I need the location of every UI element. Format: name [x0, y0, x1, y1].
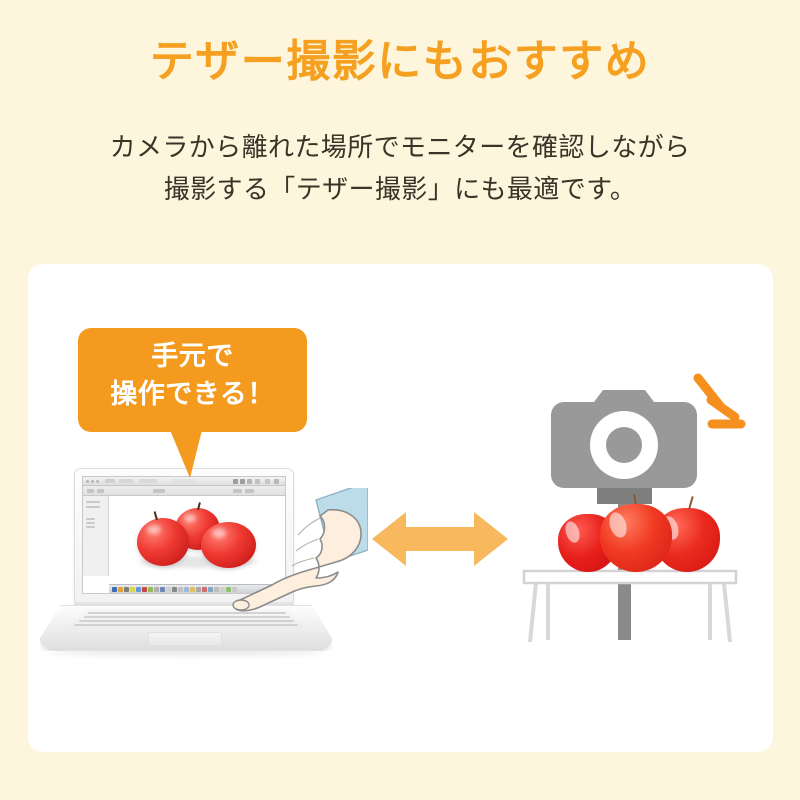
window-close-dot	[86, 480, 89, 483]
arrow-shape	[372, 512, 508, 566]
dock-icon-app-18[interactable]	[220, 587, 225, 592]
keyboard-row-3	[79, 620, 294, 622]
dock-icon-app-15[interactable]	[202, 587, 207, 592]
titlebar-icon-3	[247, 479, 252, 484]
toolbar-button-3[interactable]	[153, 489, 165, 493]
titlebar-segment-2	[119, 479, 133, 483]
camera-lens-center	[606, 427, 642, 463]
arrow-svg	[372, 508, 508, 570]
titlebar-icon-2	[240, 479, 245, 484]
toolbar-button-2[interactable]	[97, 489, 104, 493]
dock-icon-finder[interactable]	[112, 587, 117, 592]
table-leg-right-front	[724, 583, 730, 642]
page-root: テザー撮影にもおすすめ カメラから離れた場所でモニターを確認しながら 撮影する「…	[0, 0, 800, 800]
finger-crease-3	[298, 518, 320, 535]
speech-bubble-tail	[170, 430, 202, 478]
titlebar-segment-1	[105, 479, 115, 483]
dock-icon-safari[interactable]	[136, 587, 141, 592]
pointing-hand-svg	[228, 488, 368, 618]
photo-apple-left	[137, 518, 189, 566]
dock-icon-app-13[interactable]	[190, 587, 195, 592]
dock-icon-app-16[interactable]	[208, 587, 213, 592]
keyboard-row-4	[74, 624, 298, 626]
table-apple-center-highlight	[606, 510, 629, 539]
dock-icon-settings[interactable]	[124, 587, 129, 592]
sidebar-row-2[interactable]	[86, 506, 100, 508]
titlebar-title	[171, 479, 195, 483]
sidebar-row-5[interactable]	[86, 526, 95, 528]
subtitle-line-1: カメラから離れた場所でモニターを確認しながら	[0, 126, 800, 168]
window-minimize-dot	[91, 480, 94, 483]
toolbar-button-1[interactable]	[87, 489, 94, 493]
double-headed-arrow	[372, 508, 508, 570]
camera-scene-svg	[518, 362, 778, 642]
finger-crease-2	[296, 539, 318, 551]
pointing-hand-illustration	[228, 488, 368, 618]
table-top	[524, 571, 736, 583]
dock-icon-photos[interactable]	[154, 587, 159, 592]
dock-icon-app-14[interactable]	[196, 587, 201, 592]
titlebar-icon-6	[274, 479, 279, 484]
titlebar-segment-3	[139, 479, 157, 483]
dock-icon-notes[interactable]	[130, 587, 135, 592]
dock-icon-calendar[interactable]	[148, 587, 153, 592]
titlebar-icon-5	[265, 479, 270, 484]
dock-icon-app-11[interactable]	[178, 587, 183, 592]
window-sidebar	[83, 496, 109, 576]
speech-bubble-line-2: 操作できる！	[78, 375, 307, 413]
dock-icon-app-12[interactable]	[184, 587, 189, 592]
speech-bubble: 手元で 操作できる！	[78, 328, 307, 432]
titlebar-icon-4	[255, 479, 260, 484]
dock-icon-launchpad[interactable]	[118, 587, 123, 592]
sidebar-row-4[interactable]	[86, 522, 95, 524]
speech-bubble-line-1: 手元で	[78, 337, 307, 375]
page-subtitle: カメラから離れた場所でモニターを確認しながら 撮影する「テザー撮影」にも最適です…	[0, 126, 800, 210]
sidebar-row-3[interactable]	[86, 518, 95, 520]
hand-shape	[234, 510, 361, 611]
table-apple-center	[600, 504, 672, 572]
dock-icon-maps[interactable]	[166, 587, 171, 592]
dock-icon-music[interactable]	[160, 587, 165, 592]
speech-bubble-text: 手元で 操作できる！	[78, 337, 307, 414]
titlebar-icon-1	[233, 479, 238, 484]
window-titlebar	[83, 477, 285, 486]
flash-icon	[698, 378, 741, 424]
page-title: テザー撮影にもおすすめ	[0, 38, 800, 86]
camera-scene	[518, 362, 778, 642]
dock-icon-terminal[interactable]	[172, 587, 177, 592]
camera-mount	[597, 486, 652, 504]
dock-icon-app-17[interactable]	[214, 587, 219, 592]
table-leg-left-front	[530, 583, 536, 642]
window-zoom-dot	[96, 480, 99, 483]
index-fingertip	[233, 600, 249, 610]
sidebar-row-1[interactable]	[86, 501, 100, 503]
finger-crease-1	[292, 558, 314, 566]
table-apple-left-highlight	[563, 519, 582, 544]
dock-icon-mail[interactable]	[142, 587, 147, 592]
subtitle-line-2: 撮影する「テザー撮影」にも最適です。	[0, 168, 800, 210]
laptop-trackpad[interactable]	[148, 632, 222, 646]
